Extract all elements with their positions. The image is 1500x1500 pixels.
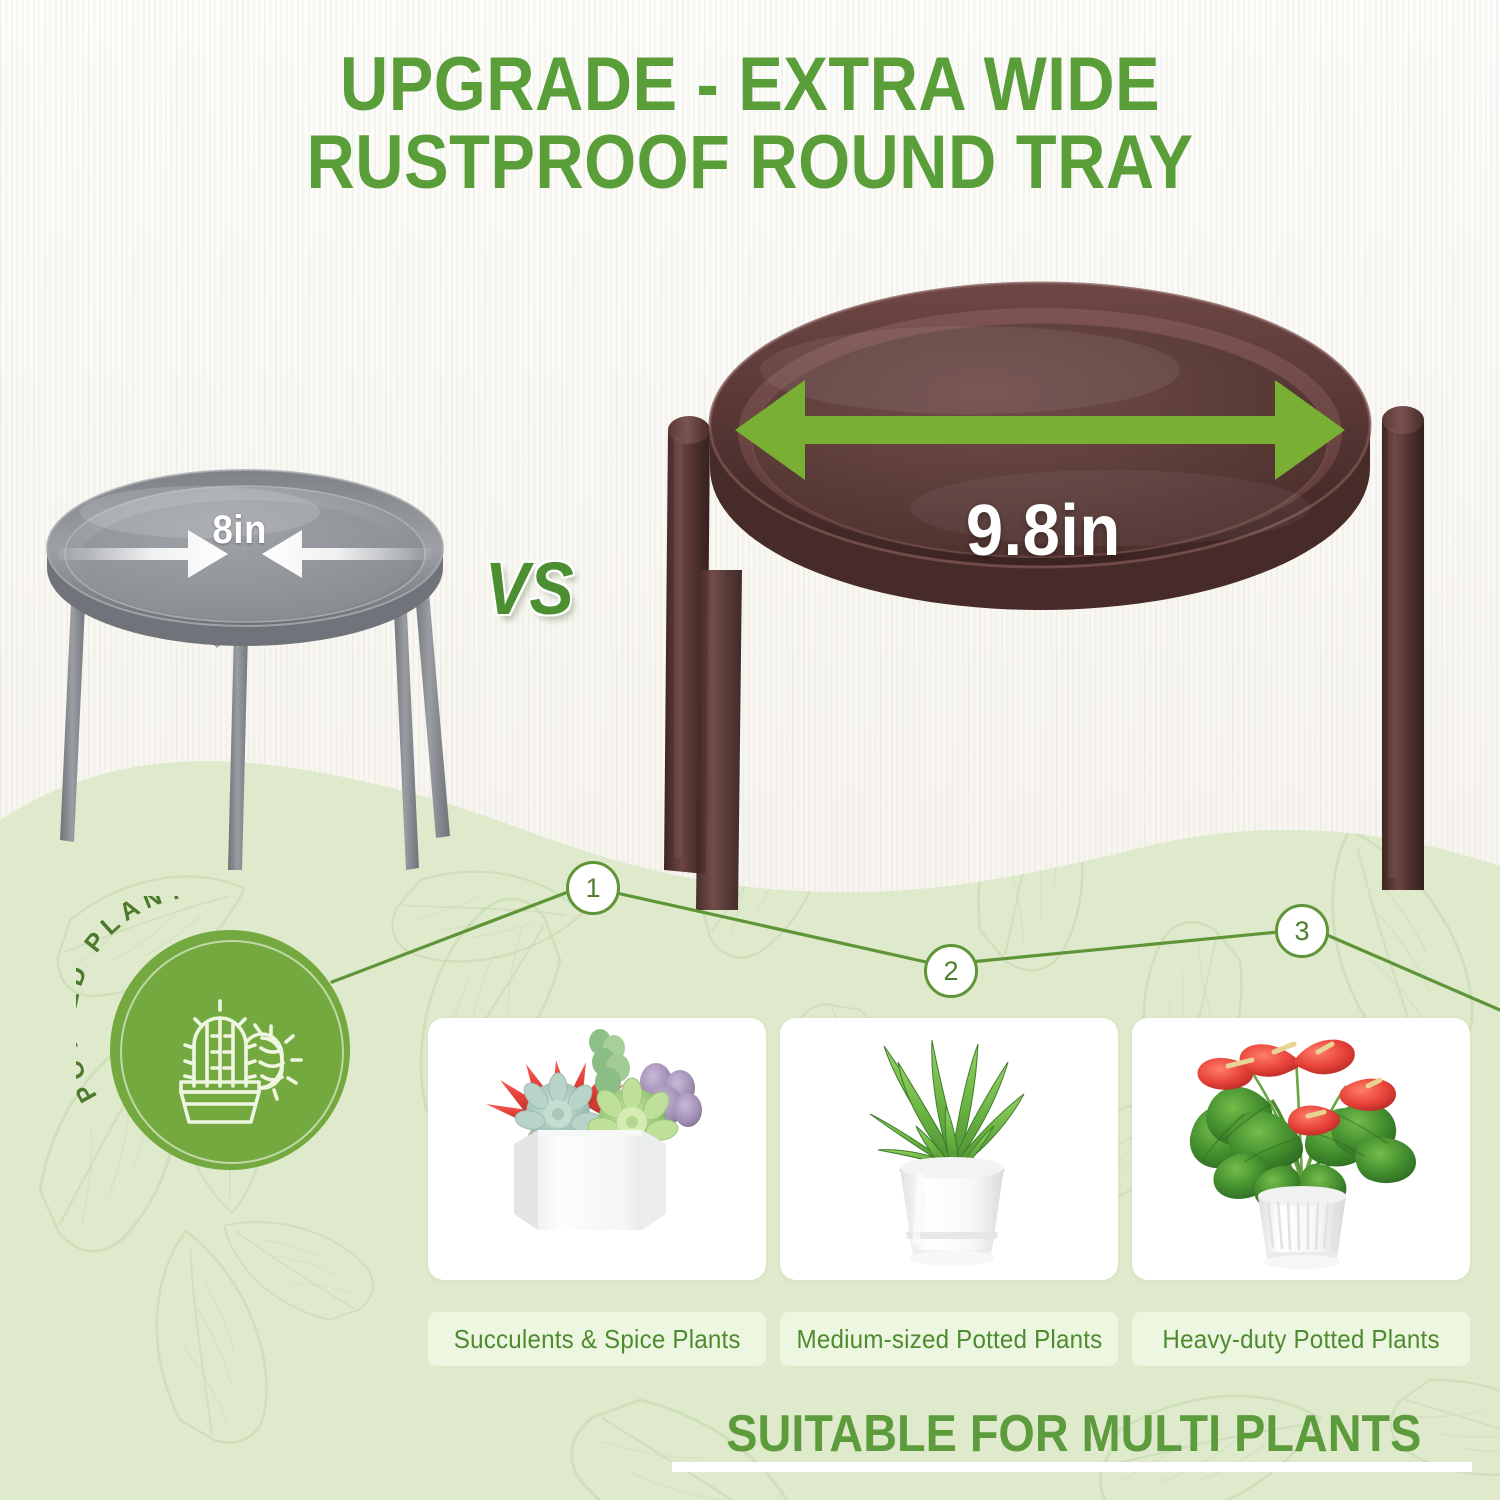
infographic-root: UPGRADE - EXTRA WIDE RUSTPROOF ROUND TRA…	[0, 0, 1500, 1500]
new-dimension-label: 9.8in	[966, 490, 1121, 572]
node-marker-1: 1	[566, 861, 620, 915]
old-plant-stand	[40, 440, 520, 870]
anthurium-plant-image	[1132, 1018, 1470, 1280]
aloe-plant-image	[780, 1018, 1118, 1280]
node-2-label: 2	[943, 956, 958, 987]
plant-card-anthurium[interactable]	[1132, 1018, 1470, 1280]
caption-card-1: Succulents & Spice Plants	[428, 1312, 766, 1366]
caption-card-3: Heavy-duty Potted Plants	[1132, 1312, 1470, 1366]
cactus-in-pot-icon	[150, 974, 310, 1134]
node-marker-3: 3	[1275, 904, 1329, 958]
caption-card-2: Medium-sized Potted Plants	[780, 1312, 1118, 1366]
new-stand-leg-middle	[696, 570, 742, 910]
old-dimension-label: 8in	[212, 508, 267, 553]
node-marker-2: 2	[924, 944, 978, 998]
white-hexagon-pot	[514, 1130, 666, 1230]
plant-card-aloe[interactable]	[780, 1018, 1118, 1280]
node-3-label: 3	[1294, 916, 1309, 947]
vs-label: VS	[485, 552, 574, 626]
bottom-heading: SUITABLE FOR MULTI PLANTS	[726, 1408, 1415, 1460]
aloe-leaves	[870, 1040, 1024, 1168]
white-ribbed-pot	[1258, 1186, 1346, 1269]
potted-plant-badge: POTTED PLANT	[110, 930, 350, 1170]
plant-card-succulents[interactable]	[428, 1018, 766, 1280]
node-1-label: 1	[585, 873, 600, 904]
page-title: UPGRADE - EXTRA WIDE RUSTPROOF ROUND TRA…	[90, 46, 1410, 203]
bottom-heading-underline	[672, 1462, 1472, 1472]
white-tapered-pot	[900, 1157, 1004, 1266]
new-plant-stand	[640, 270, 1460, 910]
succulents-arrangement-image	[428, 1018, 766, 1280]
new-stand-leg-right	[1382, 406, 1424, 890]
